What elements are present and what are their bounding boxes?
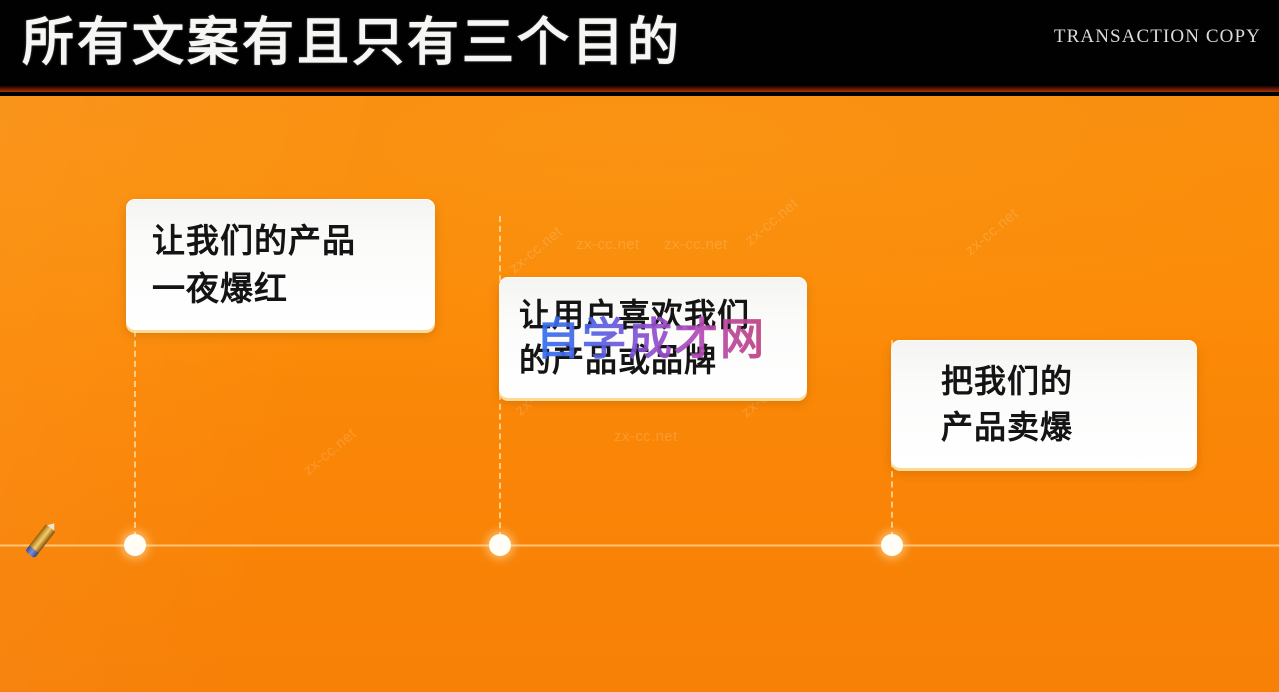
- goal-card-3[interactable]: 把我们的 产品卖爆: [891, 340, 1197, 468]
- timeline-node-1[interactable]: [124, 534, 146, 556]
- timeline-node-3[interactable]: [881, 534, 903, 556]
- site-watermark: zx-cc.net: [506, 223, 566, 277]
- pencil-cursor-icon: [25, 520, 59, 559]
- goal-card-2[interactable]: 让用户喜欢我们 的产品或品牌: [499, 277, 807, 398]
- site-watermark: zx-cc.net: [742, 195, 802, 249]
- site-watermark: zx-cc.net: [664, 236, 728, 253]
- slide-header-bar: 所有文案有且只有三个目的 TRANSACTION COPY: [0, 0, 1279, 92]
- page-title: 所有文案有且只有三个目的: [22, 6, 682, 80]
- site-watermark: zx-cc.net: [576, 236, 640, 253]
- goal-card-1-text: 让我们的产品 一夜爆红: [126, 217, 435, 313]
- transaction-copy-label: TRANSACTION COPY: [1054, 26, 1261, 48]
- site-watermark: zx-cc.net: [614, 428, 678, 445]
- slide-canvas: 所有文案有且只有三个目的 TRANSACTION COPY zx-cc.net …: [0, 0, 1279, 692]
- goal-card-2-text: 让用户喜欢我们 的产品或品牌: [499, 293, 807, 383]
- site-watermark: zx-cc.net: [300, 425, 360, 479]
- slide-body: zx-cc.net zx-cc.net zx-cc.net zx-cc.net …: [0, 96, 1279, 692]
- goal-card-1[interactable]: 让我们的产品 一夜爆红: [126, 199, 435, 330]
- goal-card-3-text: 把我们的 产品卖爆: [891, 358, 1197, 450]
- timeline-axis: [0, 544, 1279, 547]
- site-watermark: zx-cc.net: [962, 205, 1022, 259]
- timeline-node-2[interactable]: [489, 534, 511, 556]
